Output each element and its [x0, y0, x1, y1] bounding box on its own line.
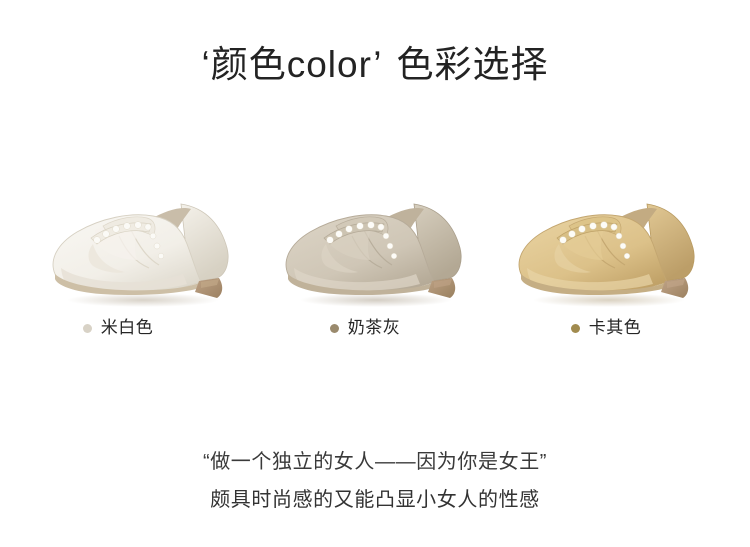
color-name-2: 奶茶灰: [348, 317, 401, 339]
color-name-3: 卡其色: [589, 317, 642, 339]
tagline-primary: “做一个独立的女人——因为你是女王”: [0, 443, 750, 481]
shoe-shadow: [533, 293, 685, 307]
page-title-tail: 色彩选择: [397, 40, 549, 90]
page-title-quoted: ‘颜色color’: [201, 40, 382, 90]
color-swatch-row: 米白色: [0, 182, 750, 357]
shoe-image-3: [497, 182, 719, 310]
product-color-section: ‘颜色color’色彩选择: [0, 0, 750, 547]
color-label-2: 奶茶灰: [330, 316, 401, 340]
shoe-image-1: [31, 182, 253, 310]
page-title-text: ‘颜色color’色彩选择: [201, 40, 548, 90]
page-title: ‘颜色color’色彩选择: [0, 40, 750, 90]
color-option-1[interactable]: 米白色: [28, 182, 256, 357]
color-option-3[interactable]: 卡其色: [494, 182, 722, 357]
color-name-1: 米白色: [101, 317, 154, 339]
color-dot-2: [330, 324, 339, 333]
shoe-shadow: [67, 293, 219, 307]
color-dot-3: [571, 324, 580, 333]
shoe-image-2: [264, 182, 486, 310]
color-label-3: 卡其色: [571, 316, 642, 340]
color-option-2[interactable]: 奶茶灰: [261, 182, 489, 357]
color-label-1: 米白色: [83, 316, 154, 340]
shoe-shadow: [300, 293, 452, 307]
tagline-block: “做一个独立的女人——因为你是女王” 颇具时尚感的又能凸显小女人的性感: [0, 443, 750, 519]
tagline-secondary: 颇具时尚感的又能凸显小女人的性感: [0, 481, 750, 519]
color-dot-1: [83, 324, 92, 333]
